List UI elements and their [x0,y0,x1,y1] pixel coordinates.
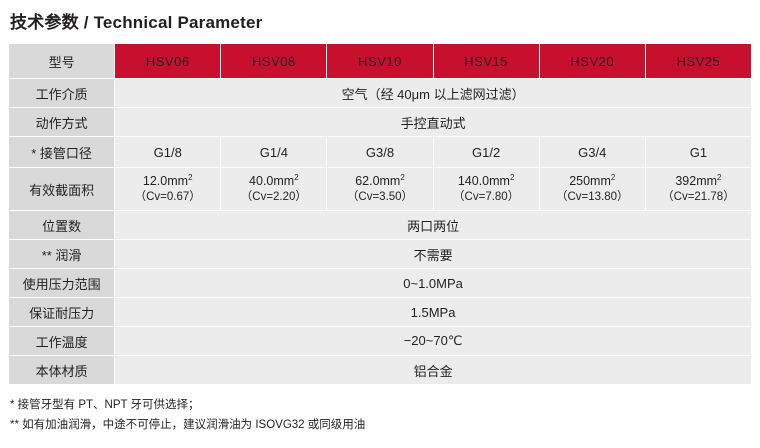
area-superscript: 2 [400,173,404,182]
area-value-hsv08: 40.0mm2 [221,173,326,190]
effective-area-hsv25: 392mm2 （Cv=21.78） [645,168,751,211]
row-label-proof-pressure: 保证耐压力 [9,298,115,327]
model-header-hsv06: HSV06 [115,44,221,79]
area-superscript: 2 [510,173,514,182]
row-label-pressure-range: 使用压力范围 [9,269,115,298]
cv-value-hsv08: （Cv=2.20） [221,190,326,206]
area-superscript: 2 [188,173,192,182]
row-value-proof-pressure: 1.5MPa [115,298,752,327]
table-row: 有效截面积 12.0mm2 （Cv=0.67） 40.0mm2 （Cv=2.20… [9,168,752,211]
table-header-row: 型号 HSV06 HSV08 HSV10 HSV15 HSV20 HSV25 [9,44,752,79]
model-header-hsv20: HSV20 [539,44,645,79]
area-value-hsv10: 62.0mm2 [327,173,432,190]
footnote-lubrication: ** 如有加油润滑，中途不可停止，建议润滑油为 ISOVG32 或同级用油 [10,415,752,435]
cv-value-hsv25: （Cv=21.78） [646,190,751,206]
cv-value-hsv20: （Cv=13.80） [540,190,645,206]
table-row: 动作方式 手控直动式 [9,108,752,137]
port-size-hsv15: G1/2 [433,137,539,168]
row-label-temperature: 工作温度 [9,327,115,356]
area-value-hsv15: 140.0mm2 [434,173,539,190]
technical-parameter-table: 型号 HSV06 HSV08 HSV10 HSV15 HSV20 HSV25 工… [8,43,752,385]
area-value-hsv06: 12.0mm2 [115,173,220,190]
model-header-hsv15: HSV15 [433,44,539,79]
footnote-thread-type: * 接管牙型有 PT、NPT 牙可供选择； [10,395,752,415]
effective-area-hsv10: 62.0mm2 （Cv=3.50） [327,168,433,211]
port-size-hsv20: G3/4 [539,137,645,168]
page-title: 技术参数 / Technical Parameter [8,0,752,43]
table-row: 工作温度 −20~70℃ [9,327,752,356]
area-superscript: 2 [717,173,721,182]
area-value-hsv25: 392mm2 [646,173,751,190]
effective-area-hsv20: 250mm2 （Cv=13.80） [539,168,645,211]
table-row: 位置数 两口两位 [9,211,752,240]
row-value-lubrication: 不需要 [115,240,752,269]
table-row: 使用压力范围 0~1.0MPa [9,269,752,298]
area-superscript: 2 [294,173,298,182]
row-label-positions: 位置数 [9,211,115,240]
row-label-action-type: 动作方式 [9,108,115,137]
row-value-medium: 空气（经 40μm 以上滤网过滤） [115,79,752,108]
effective-area-hsv06: 12.0mm2 （Cv=0.67） [115,168,221,211]
model-header-hsv10: HSV10 [327,44,433,79]
row-label-lubrication: ** 润滑 [9,240,115,269]
footnotes: * 接管牙型有 PT、NPT 牙可供选择； ** 如有加油润滑，中途不可停止，建… [8,385,752,435]
model-header-hsv25: HSV25 [645,44,751,79]
row-label-port-size: * 接管口径 [9,137,115,168]
row-value-action-type: 手控直动式 [115,108,752,137]
spec-sheet-page: 技术参数 / Technical Parameter 型号 HSV06 HSV0… [0,0,760,448]
area-value-hsv20: 250mm2 [540,173,645,190]
row-value-temperature: −20~70℃ [115,327,752,356]
effective-area-hsv08: 40.0mm2 （Cv=2.20） [221,168,327,211]
effective-area-hsv15: 140.0mm2 （Cv=7.80） [433,168,539,211]
port-size-hsv25: G1 [645,137,751,168]
row-label-medium: 工作介质 [9,79,115,108]
table-row: 工作介质 空气（经 40μm 以上滤网过滤） [9,79,752,108]
row-label-effective-area: 有效截面积 [9,168,115,211]
cv-value-hsv06: （Cv=0.67） [115,190,220,206]
table-row: 保证耐压力 1.5MPa [9,298,752,327]
row-value-pressure-range: 0~1.0MPa [115,269,752,298]
area-superscript: 2 [611,173,615,182]
port-size-hsv08: G1/4 [221,137,327,168]
row-value-positions: 两口两位 [115,211,752,240]
table-row: * 接管口径 G1/8 G1/4 G3/8 G1/2 G3/4 G1 [9,137,752,168]
table-row: ** 润滑 不需要 [9,240,752,269]
row-value-body-material: 铝合金 [115,356,752,385]
cv-value-hsv10: （Cv=3.50） [327,190,432,206]
row-label-body-material: 本体材质 [9,356,115,385]
table-row: 本体材质 铝合金 [9,356,752,385]
header-row-label: 型号 [9,44,115,79]
port-size-hsv06: G1/8 [115,137,221,168]
model-header-hsv08: HSV08 [221,44,327,79]
cv-value-hsv15: （Cv=7.80） [434,190,539,206]
port-size-hsv10: G3/8 [327,137,433,168]
